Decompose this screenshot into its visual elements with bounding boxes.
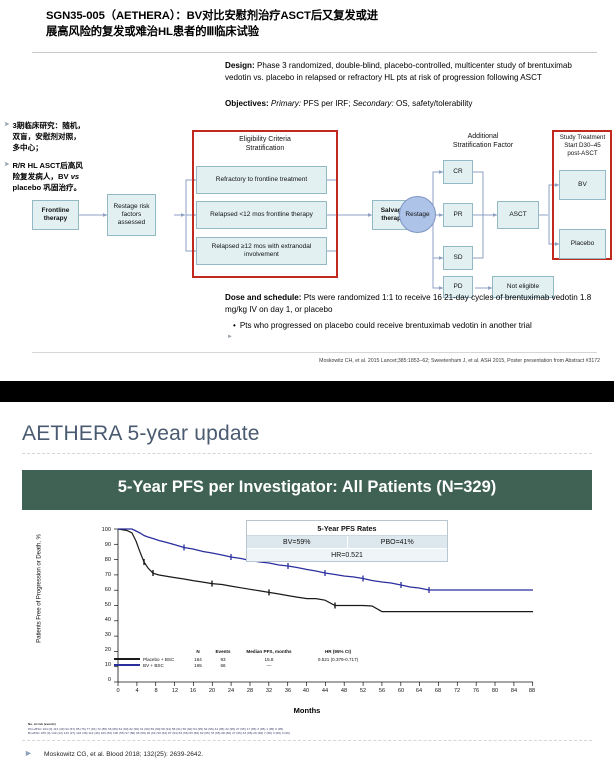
slide1-title-line1: SGN35-005（AETHERA）：BV对比安慰剂治疗ASCT后又复发或进 (46, 8, 591, 24)
x-tick-32: 32 (262, 688, 276, 694)
triangle-bullet-icon-small: ► (227, 334, 233, 340)
legend-item-bv: BV + BSC (114, 662, 174, 668)
chart-legend: Placebo + BSC BV + BSC (114, 656, 174, 668)
slide-separator-band (0, 381, 614, 402)
flow-node-restage-risk-factors: Restage risk factors assessed (107, 194, 156, 236)
flow-node-relapsed-ge12: Relapsed ≥12 mos with extranodal involve… (196, 237, 327, 265)
flow-node-restage: Restage (399, 196, 436, 233)
x-tick-68: 68 (431, 688, 445, 694)
eligibility-criteria-header: Eligibility Criteria Stratification (198, 135, 332, 153)
x-tick-44: 44 (318, 688, 332, 694)
slide1-title: SGN35-005（AETHERA）：BV对比安慰剂治疗ASCT后又复发或进 展… (46, 8, 591, 40)
flow-node-pr: PR (443, 203, 473, 227)
design-label: Design: (225, 61, 255, 70)
objectives-secondary-label: Secondary: (353, 99, 394, 108)
slide1-title-line2: 展高风险的复发或难治HL患者的Ⅲ临床试验 (46, 24, 591, 40)
dose-sub-text: Pts who progressed on placebo could rece… (240, 320, 532, 332)
stats-col-n: N (190, 649, 206, 654)
title-divider (32, 52, 597, 53)
x-tick-72: 72 (450, 688, 464, 694)
x-tick-56: 56 (375, 688, 389, 694)
design-paragraph: Design: Phase 3 randomized, double-blind… (225, 60, 597, 83)
triangle-bullet-icon: ► (24, 748, 33, 758)
x-tick-24: 24 (224, 688, 238, 694)
numbers-at-risk-table: No. at risk (events) Pbo+BSC 164 (0) 113… (28, 722, 588, 736)
pfs-rates-header: 5-Year PFS Rates (247, 521, 447, 536)
legend-label-placebo: Placebo + BSC (143, 657, 174, 662)
dose-sub-bullet: • Pts who progressed on placebo could re… (233, 320, 603, 332)
stats-hr-ci: 0.521 (0.379-0.717) (308, 657, 368, 662)
pfs-hr-value: HR=0.521 (247, 549, 447, 561)
pfs-panel: 5-Year PFS per Investigator: All Patient… (22, 470, 592, 742)
study-treatment-header: Study Treatment Start D30–45 post-ASCT (554, 134, 611, 158)
dose-and-schedule-paragraph: Dose and schedule: Pts were randomized 1… (225, 292, 603, 316)
stats-bv-median: — (238, 663, 300, 668)
x-tick-12: 12 (168, 688, 182, 694)
objectives-primary-label: Primary: (271, 99, 301, 108)
x-tick-40: 40 (299, 688, 313, 694)
stats-bv-events: 66 (212, 663, 234, 668)
objectives-primary-text: PFS per IRF; (303, 99, 350, 108)
x-tick-28: 28 (243, 688, 257, 694)
x-tick-0: 0 (111, 688, 125, 694)
x-tick-64: 64 (412, 688, 426, 694)
x-tick-52: 52 (356, 688, 370, 694)
additional-stratification-header: Additional Stratification Factor (420, 132, 546, 150)
stats-bv-n: 165 (190, 663, 206, 668)
x-tick-16: 16 (186, 688, 200, 694)
slide-aethera-5-year-update: AETHERA 5-year update 5-Year PFS per Inv… (0, 402, 614, 767)
x-tick-20: 20 (205, 688, 219, 694)
slide1-citation: Moskowitz CH, et al. 2015 Lancet;385:185… (130, 358, 600, 364)
flow-node-sd: SD (443, 246, 473, 270)
x-tick-48: 48 (337, 688, 351, 694)
flow-node-refractory-frontline: Refractory to frontline treatment (196, 166, 327, 194)
x-tick-76: 76 (469, 688, 483, 694)
stats-placebo-median: 15.8 (238, 657, 300, 662)
slide2-citation-divider (22, 740, 592, 741)
pfs-pbo-rate: PBO=41% (347, 536, 448, 548)
risk-row-bv: Bv+BSC 165 (0) 149 (12) 133 (27) 122 (38… (28, 731, 588, 736)
dot-bullet-icon: • (233, 320, 236, 332)
objectives-label: Objectives: (225, 99, 269, 108)
stats-col-events: Events (212, 649, 234, 654)
stats-placebo-events: 93 (212, 657, 234, 662)
flow-node-placebo: Placebo (559, 229, 606, 259)
pfs-panel-title: 5-Year PFS per Investigator: All Patient… (22, 478, 592, 497)
study-design-flowchart: Eligibility Criteria Stratification Addi… (0, 122, 614, 290)
stats-col-median: Median PFS, months (238, 649, 300, 654)
objectives-paragraph: Objectives: Primary: PFS per IRF; Second… (225, 98, 597, 110)
stats-col-hr: HR (95% CI) (310, 649, 366, 654)
x-tick-88: 88 (525, 688, 539, 694)
legend-swatch-bv (114, 664, 140, 665)
legend-swatch-placebo (114, 658, 140, 659)
x-tick-60: 60 (394, 688, 408, 694)
dose-label: Dose and schedule: (225, 293, 301, 302)
kaplan-meier-chart: Patients Free of Progression or Death, %… (22, 510, 592, 742)
slide-aethera-design: SGN35-005（AETHERA）：BV对比安慰剂治疗ASCT后又复发或进 展… (0, 0, 614, 381)
citation-divider (32, 352, 597, 353)
stats-placebo-n: 164 (190, 657, 206, 662)
slide2-citation: Moskowitz CG, et al. Blood 2018; 132(25)… (44, 751, 203, 758)
x-tick-80: 80 (488, 688, 502, 694)
flow-node-cr: CR (443, 160, 473, 184)
pfs-rates-table: 5-Year PFS Rates BV=59% PBO=41% HR=0.521 (246, 520, 448, 562)
x-tick-4: 4 (130, 688, 144, 694)
x-tick-36: 36 (281, 688, 295, 694)
flow-node-bv: BV (559, 170, 606, 200)
flow-node-frontline-therapy: Frontline therapy (32, 200, 79, 230)
design-text: Phase 3 randomized, double-blind, placeb… (225, 61, 572, 82)
pfs-bv-rate: BV=59% (247, 536, 347, 548)
x-tick-8: 8 (149, 688, 163, 694)
x-tick-84: 84 (507, 688, 521, 694)
pfs-chart-card: Patients Free of Progression or Death, %… (22, 510, 592, 742)
legend-label-bv: BV + BSC (143, 663, 164, 668)
pfs-rates-row: BV=59% PBO=41% (247, 536, 447, 549)
flow-node-asct: ASCT (497, 201, 539, 229)
slide2-title-divider (22, 453, 592, 454)
slide2-title: AETHERA 5-year update (22, 422, 260, 446)
objectives-secondary-text: OS, safety/tolerability (396, 99, 472, 108)
flow-node-relapsed-lt12: Relapsed <12 mos frontline therapy (196, 201, 327, 229)
